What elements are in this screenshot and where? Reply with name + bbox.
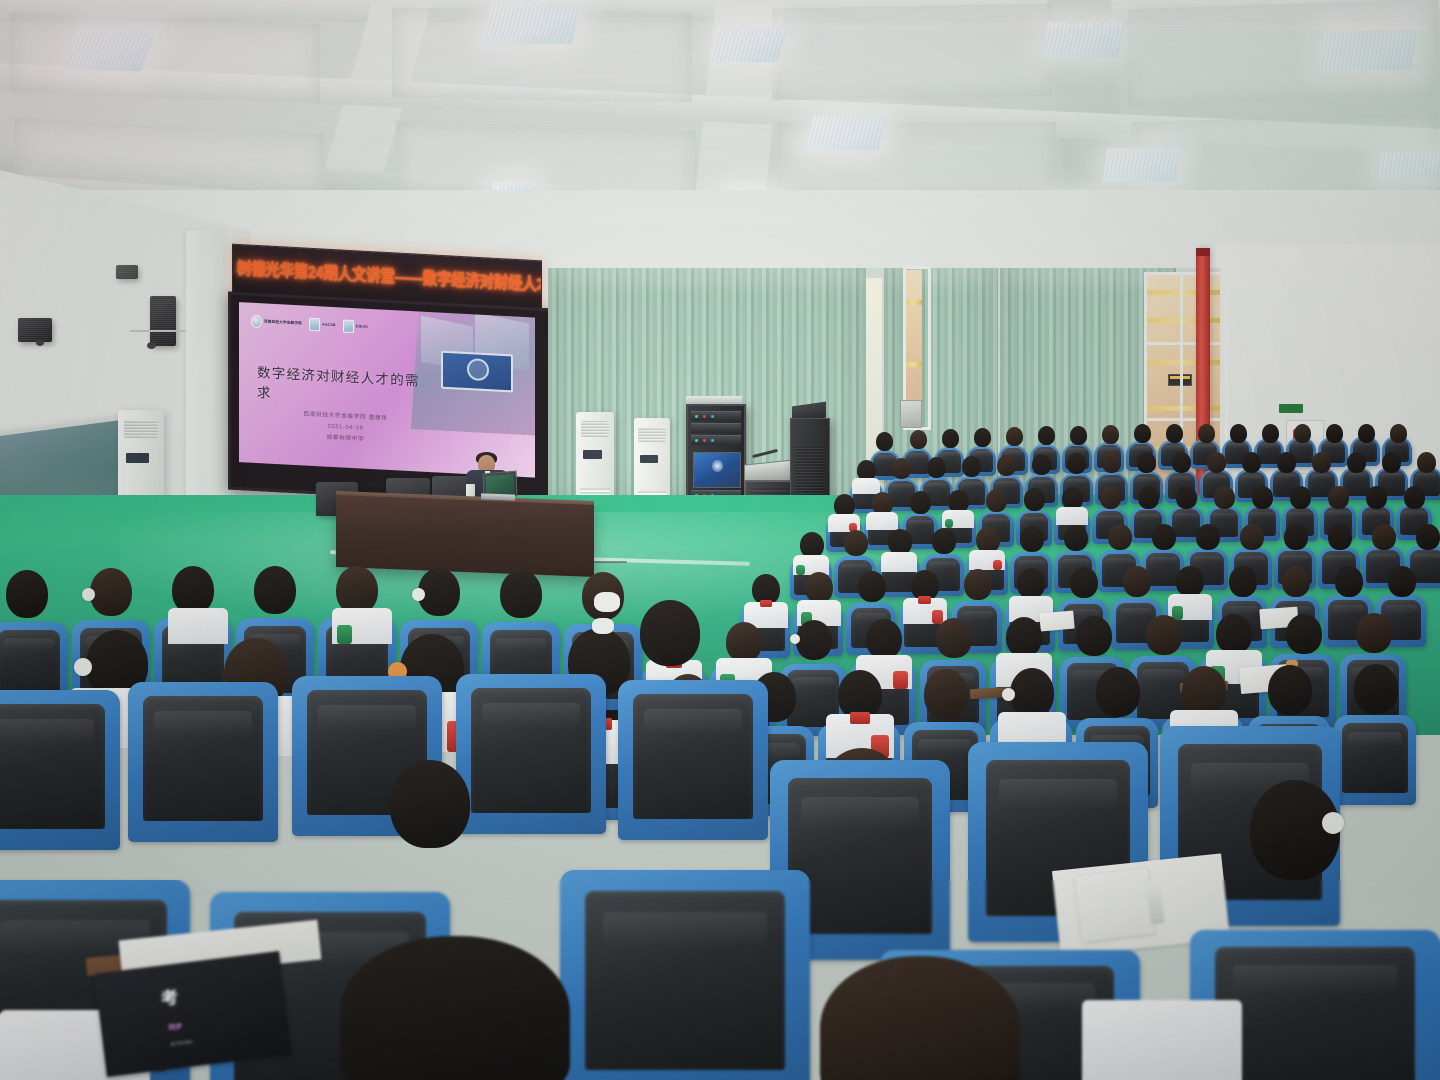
auditorium-seat[interactable] (456, 674, 606, 834)
slide-logo-aacsb: AACSB (309, 318, 336, 332)
auditorium-seat[interactable] (618, 680, 768, 840)
paper-cup (466, 484, 475, 497)
aacsb-badge-icon (309, 318, 320, 332)
slide-logo-label: EQUIS (356, 325, 368, 329)
audience-head (340, 936, 570, 1080)
accreditation-badge-icon (343, 320, 354, 334)
wall-speaker-icon (116, 265, 138, 279)
audience-head (640, 600, 700, 666)
slide-logo-label: 西南财经大学金融学院 (264, 320, 302, 326)
exit-sign (1279, 404, 1303, 413)
book-subtitle: 同步 (168, 1022, 183, 1034)
led-banner-text: 树德光华第24期人文讲堂——数字经济对财经人才的需求 (237, 255, 537, 296)
wall-speaker-icon (150, 296, 176, 346)
slide-logos: 西南财经大学金融学院 AACSB EQUIS (251, 315, 368, 334)
wall-speaker-icon (18, 318, 52, 342)
rack-monitor (693, 452, 741, 488)
slide-logo-label: AACSB (322, 323, 336, 327)
column-cap (1196, 248, 1210, 256)
wall-conduit (130, 330, 186, 332)
book-subtitle2: 高中新课标 (170, 1039, 193, 1048)
university-emblem-icon (251, 315, 262, 329)
laptop-keyboard (481, 493, 515, 500)
auditorium-seat[interactable] (128, 682, 278, 842)
slide-subtitle: 西南财经大学金融学院 唐建伟 2021-04-19 成都树德中学 (263, 407, 428, 448)
auditorium-seat[interactable] (560, 870, 810, 1080)
slide-title: 数字经济对财经人才的需求 (257, 361, 432, 410)
lecture-hall-photo: 树德光华第24期人文讲堂——数字经济对财经人才的需求 西南财经大学金融学院 AA… (0, 0, 1440, 1080)
slide-logo-equis: EQUIS (343, 320, 368, 334)
auditorium-seat[interactable] (0, 690, 120, 850)
slide-photo-sign (441, 351, 513, 393)
presentation-slide: 西南财经大学金融学院 AACSB EQUIS 数字经济对财经人才的需求 西南财经… (239, 302, 535, 478)
student-uniform (1082, 1000, 1242, 1080)
slide-logo-university: 西南财经大学金融学院 (251, 315, 302, 331)
book-page (1074, 868, 1155, 943)
book-title: 考 (159, 982, 180, 1009)
audience-head (390, 760, 470, 848)
